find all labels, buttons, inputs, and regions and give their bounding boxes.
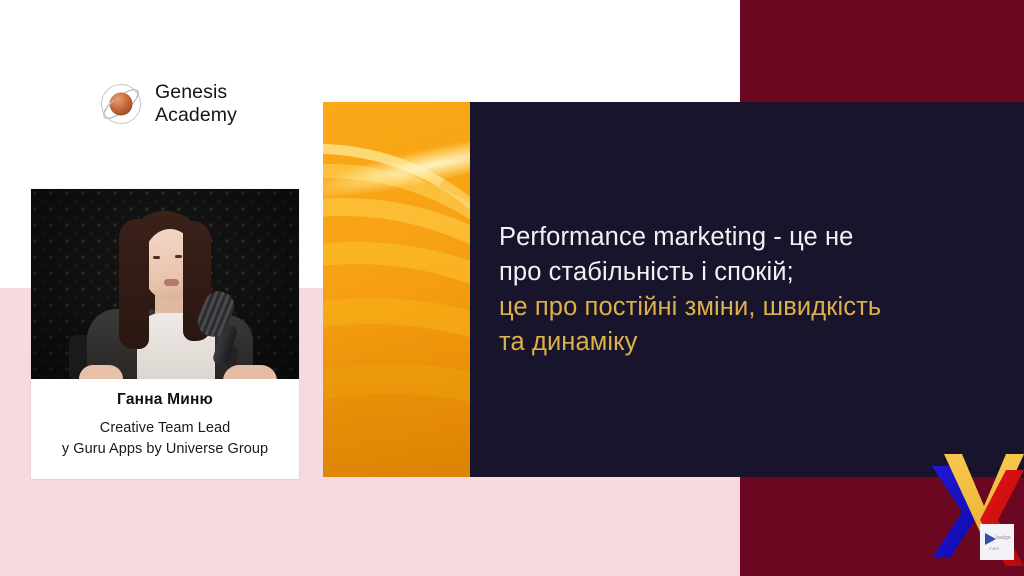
slide-line-2: про стабільність і спокій; <box>499 255 998 290</box>
hand-right <box>223 365 277 379</box>
brand-name-line-2: Academy <box>155 104 237 127</box>
genesis-academy-wordmark: Genesis Academy <box>155 81 237 127</box>
ribbon-highlight <box>323 123 470 210</box>
eye-left <box>153 256 160 259</box>
planet-ring-icon <box>97 80 145 128</box>
eye-right <box>175 255 182 258</box>
badge-label: badge <box>996 535 1011 541</box>
speaker-figure <box>31 189 299 379</box>
speaker-role-line-2: y Guru Apps by Universe Group <box>31 439 299 460</box>
speaker-card: Ганна Миню Creative Team Lead y Guru App… <box>31 189 299 479</box>
mouth <box>164 279 179 286</box>
watermark-badge: badge mark <box>980 524 1014 560</box>
slide-content: Performance marketing - це не про стабіл… <box>470 102 1024 477</box>
speaker-caption: Ганна Миню Creative Team Lead y Guru App… <box>31 379 299 479</box>
badge-sublabel: mark <box>989 546 999 551</box>
genesis-academy-logo: Genesis Academy <box>97 76 237 132</box>
screenshot-canvas: Genesis Academy <box>0 0 1024 576</box>
ribbon-shadow <box>323 307 470 477</box>
speaker-photo <box>31 189 299 379</box>
presentation-slide: Performance marketing - це не про стабіл… <box>323 102 1024 477</box>
brand-name-line-1: Genesis <box>155 81 237 104</box>
speaker-name: Ганна Миню <box>31 391 299 409</box>
badge-chevron-icon <box>985 533 996 545</box>
slide-line-4: та динаміку <box>499 325 998 360</box>
speaker-role: Creative Team Lead y Guru Apps by Univer… <box>31 418 299 460</box>
slide-quote: Performance marketing - це не про стабіл… <box>470 220 1024 360</box>
slide-line-3: це про постійні зміни, швидкість <box>499 290 998 325</box>
speaker-role-line-1: Creative Team Lead <box>31 418 299 439</box>
hand-left <box>79 365 123 379</box>
slide-line-1: Performance marketing - це не <box>499 220 998 255</box>
corner-watermark: badge mark <box>928 432 1024 576</box>
hair-front-left <box>119 219 149 349</box>
slide-orange-graphic <box>323 102 470 477</box>
